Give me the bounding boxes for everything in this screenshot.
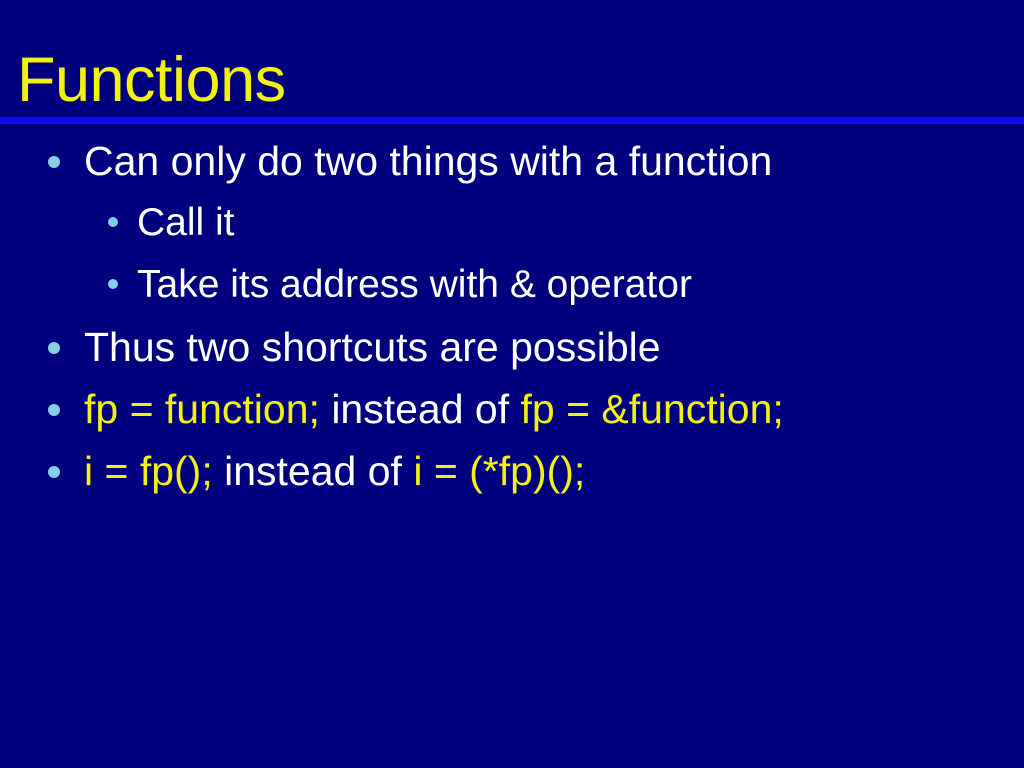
bullet-code-segment: fp = function;: [84, 386, 320, 432]
bullet-code-segment: i = fp();: [84, 448, 213, 494]
bullet-text-segment: instead of: [213, 448, 414, 494]
page-title: Functions: [17, 45, 286, 115]
disc-bullet-icon: [108, 279, 118, 289]
disc-bullet-icon: [48, 342, 60, 354]
disc-bullet-icon: [48, 156, 60, 168]
disc-bullet-icon: [48, 404, 60, 416]
presentation-slide: Functions Can only do two things with a …: [0, 0, 1024, 768]
bullet-item-label: Thus two shortcuts are possible: [0, 316, 1024, 378]
bullet-code-segment: i = (*fp)();: [413, 448, 585, 494]
bullet-item-label: Call it: [0, 192, 1024, 254]
bullet-code-segment: fp = &function;: [521, 386, 784, 432]
bullet-text-segment: Thus two shortcuts are possible: [84, 324, 661, 370]
bullet-text-segment: Can only do two things with a function: [84, 138, 772, 184]
bullet-item: Can only do two things with a function: [0, 130, 1024, 192]
bullet-item: Take its address with & operator: [0, 254, 1024, 316]
bullet-item: Call it: [0, 192, 1024, 254]
bullet-item-label: i = fp(); instead of i = (*fp)();: [0, 440, 1024, 502]
bullet-item: i = fp(); instead of i = (*fp)();: [0, 440, 1024, 502]
bullet-item-label: fp = function; instead of fp = &function…: [0, 378, 1024, 440]
bullet-item-label: Take its address with & operator: [0, 254, 1024, 316]
bullet-item: fp = function; instead of fp = &function…: [0, 378, 1024, 440]
bullet-item-label: Can only do two things with a function: [0, 130, 1024, 192]
slide-body-bullet-list: Can only do two things with a functionCa…: [0, 130, 1024, 502]
bullet-item: Thus two shortcuts are possible: [0, 316, 1024, 378]
disc-bullet-icon: [108, 217, 118, 227]
bullet-text-segment: instead of: [320, 386, 521, 432]
bullet-text-segment: Call it: [137, 201, 235, 244]
title-divider-rule: [0, 117, 1024, 124]
bullet-text-segment: Take its address with & operator: [137, 263, 692, 306]
disc-bullet-icon: [48, 466, 60, 478]
